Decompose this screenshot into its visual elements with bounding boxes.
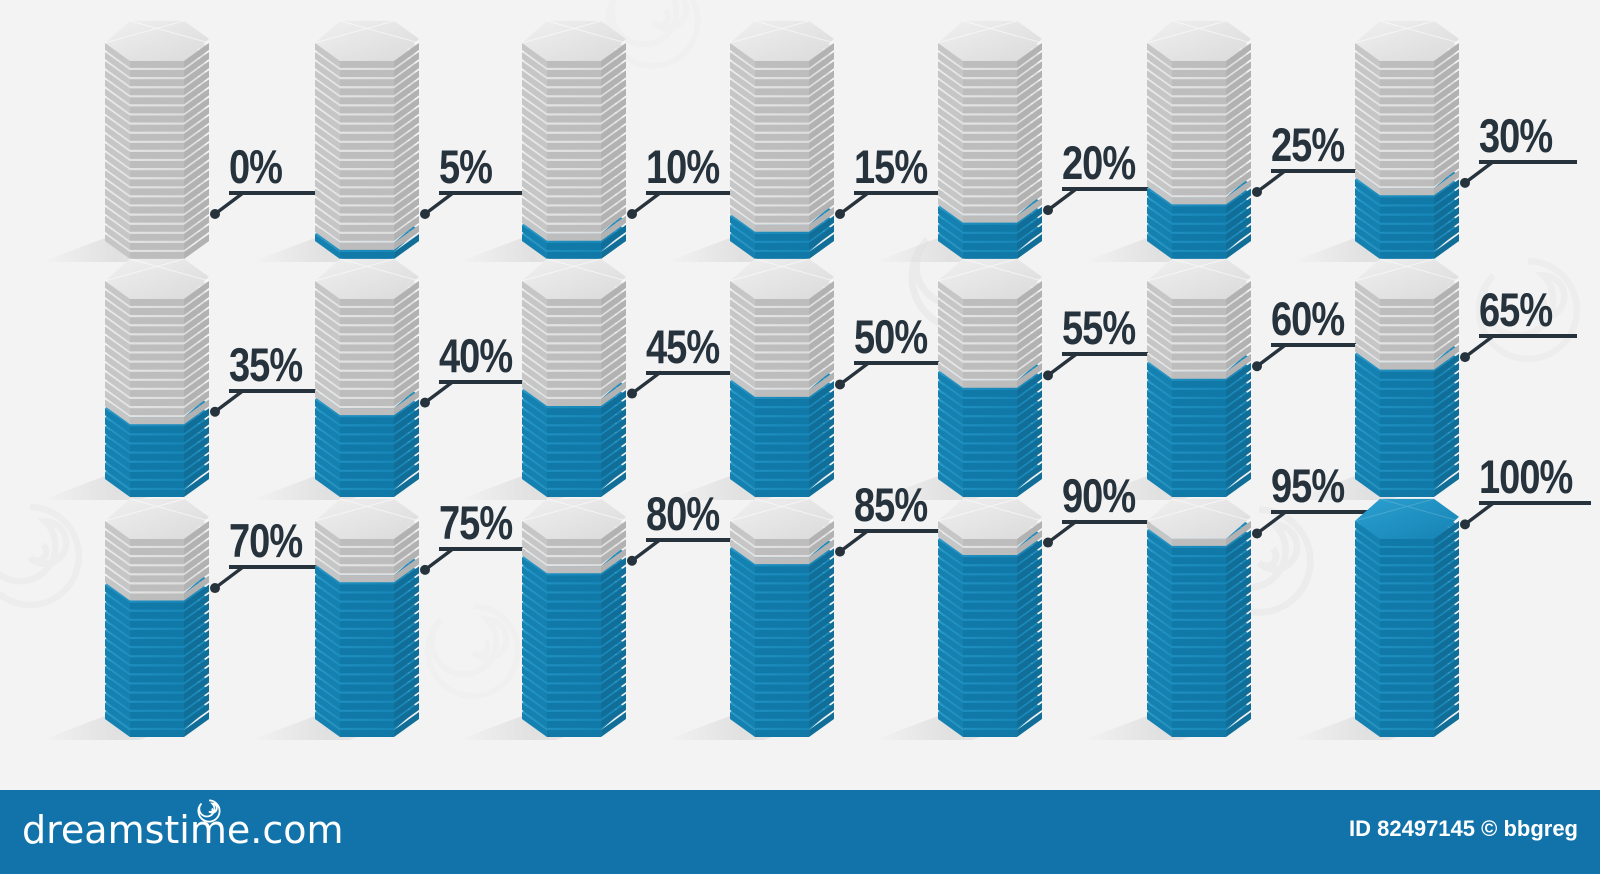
leader-line bbox=[1117, 0, 1347, 240]
leader-dot bbox=[1460, 352, 1470, 362]
leader-dot bbox=[835, 379, 845, 389]
percentage-cylinder: 95% bbox=[1117, 478, 1347, 718]
leader-line bbox=[285, 238, 515, 478]
leader-line bbox=[1117, 478, 1347, 718]
percentage-cylinder: 35% bbox=[75, 238, 305, 478]
leader-line bbox=[1325, 238, 1555, 478]
leader-dot bbox=[210, 209, 220, 219]
leader-line bbox=[908, 478, 1138, 718]
percentage-cylinder: 25% bbox=[1117, 0, 1347, 240]
percentage-cylinder: 75% bbox=[285, 478, 515, 718]
percentage-cylinder: 20% bbox=[908, 0, 1138, 240]
leader-dot bbox=[210, 583, 220, 593]
leader-dot bbox=[1043, 538, 1053, 548]
leader-dot bbox=[627, 389, 637, 399]
leader-dot bbox=[1043, 205, 1053, 215]
footer-bar: dreamstime.com ID 82497145 © bbgreg bbox=[0, 790, 1600, 874]
leader-dot bbox=[1460, 178, 1470, 188]
leader-line bbox=[75, 238, 305, 478]
leader-dot bbox=[835, 547, 845, 557]
dreamstime-logo-text: dreamstime.com bbox=[22, 808, 343, 852]
leader-line bbox=[908, 238, 1138, 478]
leader-dot bbox=[1043, 370, 1053, 380]
leader-line bbox=[492, 238, 722, 478]
leader-dot bbox=[1252, 187, 1262, 197]
spiral-icon bbox=[196, 798, 222, 829]
leader-line bbox=[700, 238, 930, 478]
leader-dot bbox=[210, 407, 220, 417]
leader-dot bbox=[420, 209, 430, 219]
leader-dot bbox=[1460, 519, 1470, 529]
leader-dot bbox=[835, 209, 845, 219]
leader-dot bbox=[1252, 528, 1262, 538]
leader-dot bbox=[1252, 361, 1262, 371]
percentage-cylinder: 60% bbox=[1117, 238, 1347, 478]
percentage-cylinder: 65% bbox=[1325, 238, 1555, 478]
leader-dot bbox=[420, 398, 430, 408]
infographic-canvas: 0% 5% 10% bbox=[0, 0, 1600, 874]
percentage-cylinder: 45% bbox=[492, 238, 722, 478]
leader-line bbox=[1325, 0, 1555, 240]
leader-line bbox=[700, 478, 930, 718]
leader-line bbox=[1325, 478, 1555, 718]
percentage-cylinder: 5% bbox=[285, 0, 515, 240]
percentage-cylinder: 70% bbox=[75, 478, 305, 718]
leader-line bbox=[75, 0, 305, 240]
percentage-cylinder: 50% bbox=[700, 238, 930, 478]
percentage-cylinder: 90% bbox=[908, 478, 1138, 718]
percentage-cylinder: 85% bbox=[700, 478, 930, 718]
leader-line bbox=[492, 0, 722, 240]
percentage-cylinder: 15% bbox=[700, 0, 930, 240]
percentage-cylinder: 55% bbox=[908, 238, 1138, 478]
leader-line bbox=[285, 0, 515, 240]
percentage-cylinder: 40% bbox=[285, 238, 515, 478]
image-id-text: ID 82497145 © bbgreg bbox=[1349, 816, 1578, 842]
leader-dot bbox=[420, 565, 430, 575]
percentage-cylinder: 30% bbox=[1325, 0, 1555, 240]
leader-line bbox=[700, 0, 930, 240]
percentage-cylinder: 100% bbox=[1325, 478, 1555, 718]
leader-line bbox=[492, 478, 722, 718]
leader-line bbox=[75, 478, 305, 718]
leader-line bbox=[1117, 238, 1347, 478]
leader-dot bbox=[627, 556, 637, 566]
leader-line bbox=[285, 478, 515, 718]
percentage-cylinder: 80% bbox=[492, 478, 722, 718]
percentage-cylinder: 10% bbox=[492, 0, 722, 240]
leader-dot bbox=[627, 209, 637, 219]
leader-line bbox=[908, 0, 1138, 240]
percentage-cylinder: 0% bbox=[75, 0, 305, 240]
